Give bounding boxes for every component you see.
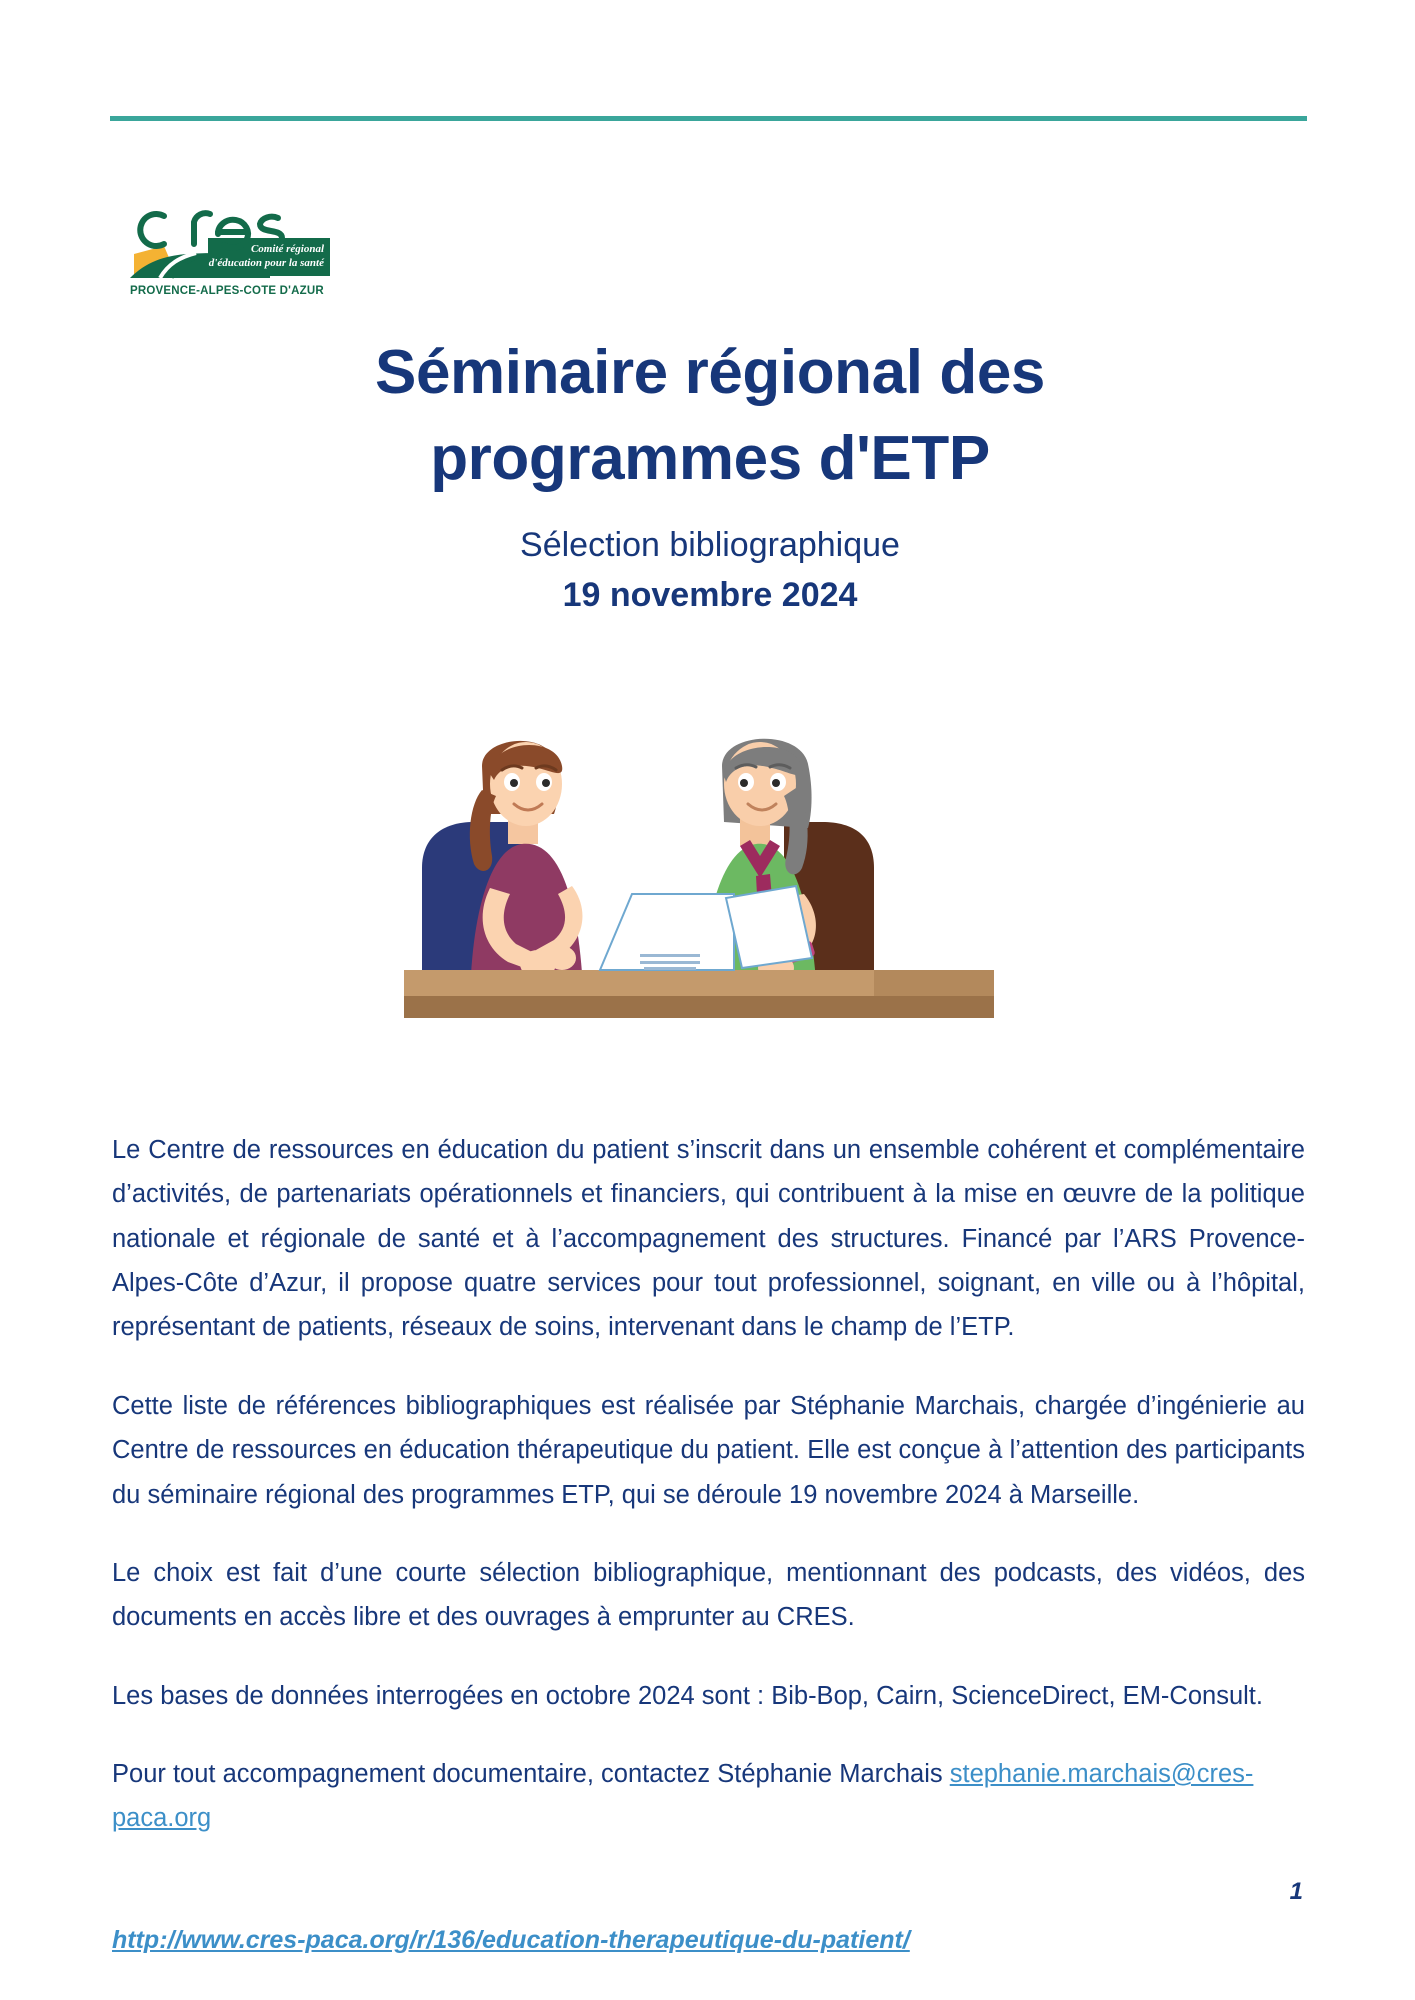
logo-tagline-line2: d'éducation pour la santé [209,257,325,269]
cres-logo: Comité régional d'éducation pour la sant… [120,180,340,300]
logo-tagline-line1: Comité régional [251,243,325,255]
header-rule [110,116,1307,121]
page-date: 19 novembre 2024 [140,573,1280,617]
illustration-svg [404,718,994,1028]
body-content: Le Centre de ressources en éducation du … [112,1128,1305,1841]
paragraph-intro: Le Centre de ressources en éducation du … [112,1128,1305,1350]
page-number: 1 [1290,1878,1303,1906]
contact-prefix: Pour tout accompagnement documentaire, c… [112,1760,950,1788]
logo-region: PROVENCE-ALPES-COTE D'AZUR [130,285,324,297]
page-subtitle: Sélection bibliographique [140,523,1280,567]
document-page: Comité régional d'éducation pour la sant… [0,0,1415,2000]
page-title-line2: programmes d'ETP [430,424,990,493]
paragraph-contact: Pour tout accompagnement documentaire, c… [112,1752,1305,1841]
paragraph-author: Cette liste de références bibliographiqu… [112,1384,1305,1517]
footer-url-link[interactable]: http://www.cres-paca.org/r/136/education… [112,1926,910,1955]
page-title: Séminaire régional des programmes d'ETP [140,330,1280,501]
illustration-two-women-talking [404,718,994,1028]
page-title-line1: Séminaire régional des [375,338,1045,407]
paragraph-selection: Le choix est fait d’une courte sélection… [112,1551,1305,1640]
cres-logo-icon: Comité régional d'éducation pour la sant… [120,180,340,300]
title-block: Séminaire régional des programmes d'ETP … [140,330,1280,617]
paragraph-databases: Les bases de données interrogées en octo… [112,1674,1305,1718]
